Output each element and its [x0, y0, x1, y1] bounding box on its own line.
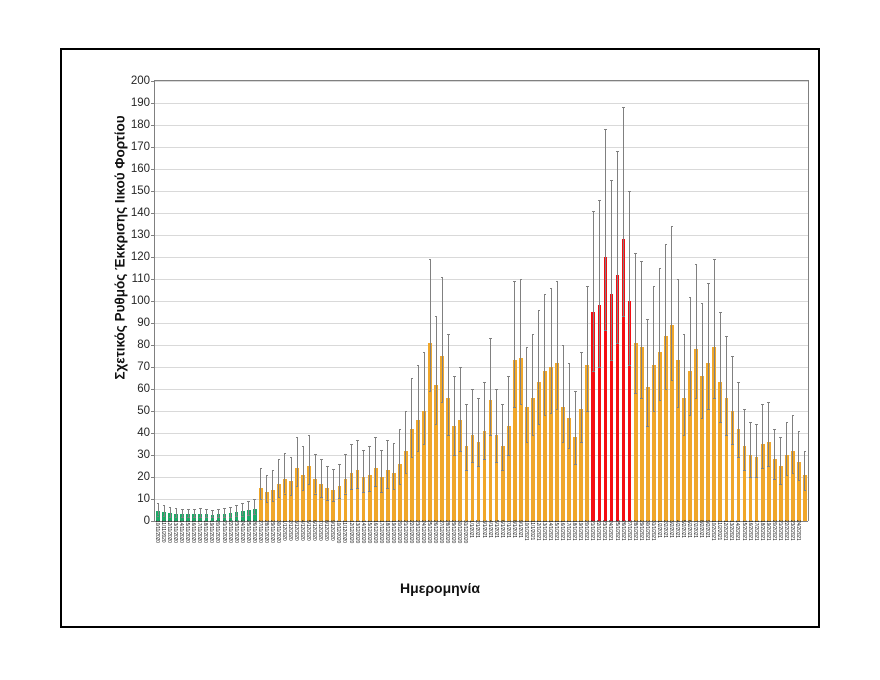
y-axis-tick-label: 140 — [131, 207, 150, 219]
bar-column — [422, 81, 426, 521]
bar-column — [682, 81, 686, 521]
bar — [283, 479, 287, 521]
x-axis-tick-label: 8/1/2021 — [511, 520, 516, 538]
x-axis-tick-label: 30/1/2021 — [644, 520, 649, 540]
bar — [567, 418, 571, 521]
bar-column — [743, 81, 747, 521]
bar-column — [265, 81, 269, 521]
bar-column — [561, 81, 565, 521]
x-axis-tick-label: 12/11/2020 — [166, 520, 171, 543]
x-axis-tick-label: 20/12/2020 — [396, 520, 401, 543]
x-axis-tick-label: 14/1/2021 — [547, 520, 552, 540]
y-axis-tick-label: 180 — [131, 119, 150, 131]
x-axis-tick-label: 16/11/2020 — [190, 520, 195, 543]
bar-column — [319, 81, 323, 521]
bar — [386, 470, 390, 521]
x-axis-tick-label: 26/11/2020 — [251, 520, 256, 543]
bar — [555, 363, 559, 521]
bar-column — [670, 81, 674, 521]
bar-column — [579, 81, 583, 521]
bar — [495, 435, 499, 521]
bar-column — [205, 81, 209, 521]
y-axis-tick-label: 20 — [137, 471, 150, 483]
bar-column — [767, 81, 771, 521]
bar — [628, 301, 632, 521]
bar — [743, 446, 747, 521]
y-axis-tick-label: 190 — [131, 97, 150, 109]
bar — [471, 435, 475, 521]
bar-column — [398, 81, 402, 521]
y-axis-tick-label: 30 — [137, 449, 150, 461]
bar — [356, 470, 360, 521]
x-axis-tick-label: 10/1/2021 — [523, 520, 528, 540]
y-axis-tick-label: 100 — [131, 295, 150, 307]
bar-column — [513, 81, 517, 521]
x-axis-tick-label: 30/11/2020 — [275, 520, 280, 543]
bar-column — [223, 81, 227, 521]
bar — [676, 360, 680, 521]
bar-column — [737, 81, 741, 521]
y-axis-tick-label: 0 — [144, 515, 150, 527]
x-axis-tick-label: 19/11/2020 — [208, 520, 213, 543]
x-axis-tick-label: 30/12/2020 — [456, 520, 461, 543]
bar — [573, 437, 577, 521]
x-axis-tick-label: 19/2/2021 — [765, 520, 770, 540]
bar — [634, 343, 638, 521]
bar — [610, 294, 614, 521]
x-axis-tick-label: 27/12/2020 — [438, 520, 443, 543]
bar-column — [313, 81, 317, 521]
bar — [483, 431, 487, 521]
bar-column — [404, 81, 408, 521]
bar — [537, 382, 541, 521]
x-axis-tick-label: 10/12/2020 — [335, 520, 340, 543]
bar-column — [525, 81, 529, 521]
bar — [410, 429, 414, 521]
bar-column — [356, 81, 360, 521]
x-axis-tick-label: 17/2/2021 — [753, 520, 758, 540]
x-axis-tick-label: 18/1/2021 — [571, 520, 576, 540]
x-axis-tick-label: 12/2/2021 — [722, 520, 727, 540]
bar-column — [446, 81, 450, 521]
bar — [477, 442, 481, 521]
bar-column — [652, 81, 656, 521]
x-axis-tick-label: 6/12/2020 — [311, 520, 316, 540]
bar-column — [338, 81, 342, 521]
bar — [731, 411, 735, 521]
x-axis-tick-label: 24/2/2021 — [795, 520, 800, 540]
bar-column — [283, 81, 287, 521]
bar — [277, 484, 281, 521]
x-axis-tick-label: 26/12/2020 — [432, 520, 437, 543]
bar-column — [622, 81, 626, 521]
x-axis-tick-label: 13/2/2021 — [728, 520, 733, 540]
bar-column — [277, 81, 281, 521]
bar-column — [392, 81, 396, 521]
x-axis-tick-label: 27/1/2021 — [626, 520, 631, 540]
bar — [525, 407, 529, 521]
x-axis-tick-label: 9/2/2021 — [704, 520, 709, 538]
x-axis-tick-label: 23/12/2020 — [414, 520, 419, 543]
bar — [755, 457, 759, 521]
bar-column — [241, 81, 245, 521]
bar — [428, 343, 432, 521]
bar — [368, 475, 372, 521]
bar-column — [616, 81, 620, 521]
bar-column — [755, 81, 759, 521]
bar — [331, 490, 335, 521]
x-axis-tick-label: 19/12/2020 — [390, 520, 395, 543]
x-axis-tick-label: 11/1/2021 — [529, 520, 534, 540]
bar — [712, 347, 716, 521]
bar-column — [307, 81, 311, 521]
bar — [803, 475, 807, 521]
x-axis-tick-label: 18/12/2020 — [384, 520, 389, 543]
bar-column — [749, 81, 753, 521]
bar — [519, 358, 523, 521]
x-axis-tick-label: 14/11/2020 — [178, 520, 183, 543]
x-axis-tick-label: 10/11/2020 — [154, 520, 159, 543]
bar — [440, 356, 444, 521]
x-axis-tick-label: 24/1/2021 — [607, 520, 612, 540]
x-axis-tick-label: 17/11/2020 — [196, 520, 201, 543]
bar — [737, 429, 741, 521]
bar — [295, 468, 299, 521]
bar-column — [362, 81, 366, 521]
bar-column — [507, 81, 511, 521]
bar-column — [585, 81, 589, 521]
x-axis-tick-label: 1/2/2021 — [656, 520, 661, 538]
bar-column — [368, 81, 372, 521]
x-axis-tick-label: 2/1/2021 — [474, 520, 479, 538]
x-axis-tick-label: 27/11/2020 — [257, 520, 262, 543]
bar-column — [156, 81, 160, 521]
bar — [718, 382, 722, 521]
bar — [398, 464, 402, 521]
bar — [549, 367, 553, 521]
bar-column — [192, 81, 196, 521]
bar — [513, 360, 517, 521]
x-axis-tick-label: 12/1/2021 — [535, 520, 540, 540]
bar — [598, 305, 602, 521]
bar-column — [180, 81, 184, 521]
bar-column — [386, 81, 390, 521]
x-axis-tick-label: 16/12/2020 — [372, 520, 377, 543]
x-axis-tick-label: 28/11/2020 — [263, 520, 268, 543]
bar-column — [731, 81, 735, 521]
bar-column — [646, 81, 650, 521]
x-axis-tick-label: 18/2/2021 — [759, 520, 764, 540]
x-axis-tick-label: 14/2/2021 — [734, 520, 739, 540]
bar — [434, 385, 438, 521]
x-axis-tick-label: 4/2/2021 — [674, 520, 679, 538]
bar-column — [331, 81, 335, 521]
x-axis-tick-label: 7/2/2021 — [692, 520, 697, 538]
bar — [325, 488, 329, 521]
bar — [694, 349, 698, 521]
bar-column — [694, 81, 698, 521]
x-axis-tick-label: 3/1/2021 — [481, 520, 486, 538]
x-axis-tick-label: 23/11/2020 — [233, 520, 238, 543]
x-axis-tick-label: 20/11/2020 — [214, 520, 219, 543]
x-axis-tick-label: 10/2/2021 — [710, 520, 715, 540]
x-axis-tick-label: 11/2/2021 — [716, 520, 721, 540]
y-axis-tick-label: 170 — [131, 141, 150, 153]
bar-column — [706, 81, 710, 521]
bar — [749, 455, 753, 521]
x-axis-tick-label: 17/1/2021 — [565, 520, 570, 540]
bar-column — [253, 81, 257, 521]
chart-frame: Σχετικός Ρυθμός Έκκρισης Ιικού Φορτίου 0… — [60, 48, 820, 628]
bar-column — [174, 81, 178, 521]
bar — [458, 420, 462, 521]
bar-column — [489, 81, 493, 521]
bar-column — [380, 81, 384, 521]
bar-column — [477, 81, 481, 521]
bar-column — [803, 81, 807, 521]
bar-column — [501, 81, 505, 521]
bar-column — [295, 81, 299, 521]
bar — [531, 398, 535, 521]
bar-column — [700, 81, 704, 521]
x-axis-tick-label: 28/12/2020 — [444, 520, 449, 543]
x-axis-tick-label: 20/1/2021 — [583, 520, 588, 540]
x-axis-tick-label: 21/11/2020 — [221, 520, 226, 543]
bar — [700, 376, 704, 521]
x-axis-tick-label: 29/12/2020 — [450, 520, 455, 543]
bar-column — [688, 81, 692, 521]
x-axis-tick-label: 25/11/2020 — [245, 520, 250, 543]
y-axis-tick-label: 50 — [137, 405, 150, 417]
x-axis-tick-label: 11/11/2020 — [160, 520, 165, 542]
x-axis-tick-label: 9/1/2021 — [517, 520, 522, 538]
y-axis-tick-label: 60 — [137, 383, 150, 395]
x-axis-tick-label: 6/2/2021 — [686, 520, 691, 538]
bar-column — [658, 81, 662, 521]
x-axis-tick-label: 5/2/2021 — [680, 520, 685, 538]
bar — [265, 492, 269, 521]
x-axis-tick-label: 17/12/2020 — [378, 520, 383, 543]
x-axis-tick-label: 7/12/2020 — [317, 520, 322, 540]
bar — [779, 466, 783, 521]
bar — [543, 371, 547, 521]
bar-column — [718, 81, 722, 521]
plot-area: 0102030405060708090100110120130140150160… — [154, 80, 809, 521]
y-axis-tick-label: 200 — [131, 75, 150, 87]
x-axis-tick-label: 21/12/2020 — [402, 520, 407, 543]
bar-column — [452, 81, 456, 521]
y-axis-tick-label: 90 — [137, 317, 150, 329]
bar — [416, 420, 420, 521]
bar-column — [628, 81, 632, 521]
bar-column — [779, 81, 783, 521]
bar-column — [712, 81, 716, 521]
x-axis-tick-label: 15/12/2020 — [366, 520, 371, 543]
bar-column — [567, 81, 571, 521]
x-axis-tick-label: 11/12/2020 — [341, 520, 346, 543]
bar — [706, 363, 710, 521]
x-axis-tick-label: 6/1/2021 — [499, 520, 504, 538]
bar-column — [271, 81, 275, 521]
bar — [688, 371, 692, 521]
bar — [392, 473, 396, 521]
bar — [622, 239, 626, 521]
x-axis-tick-label: 18/11/2020 — [202, 520, 207, 543]
bar — [313, 479, 317, 521]
y-axis-tick-label: 130 — [131, 229, 150, 241]
bar-column — [573, 81, 577, 521]
bar-column — [217, 81, 221, 521]
x-axis-tick-label: 22/1/2021 — [595, 520, 600, 540]
y-axis-tick-label: 120 — [131, 251, 150, 263]
x-axis-tick-label: 19/1/2021 — [577, 520, 582, 540]
bar — [507, 426, 511, 521]
bar-column — [289, 81, 293, 521]
bar-column — [344, 81, 348, 521]
x-axis-tick-label: 31/12/2020 — [462, 520, 467, 543]
x-axis-tick-label: 8/12/2020 — [323, 520, 328, 540]
bar — [797, 462, 801, 521]
bar-column — [676, 81, 680, 521]
x-axis-title: Ημερομηνία — [62, 580, 818, 596]
x-axis-tick-label: 20/2/2021 — [771, 520, 776, 540]
y-axis-tick-label: 80 — [137, 339, 150, 351]
bar-column — [591, 81, 595, 521]
chart-canvas: Σχετικός Ρυθμός Έκκρισης Ιικού Φορτίου 0… — [0, 0, 880, 680]
bar — [670, 325, 674, 521]
bar-column — [229, 81, 233, 521]
bar-column — [465, 81, 469, 521]
x-axis-tick-label: 26/1/2021 — [620, 520, 625, 540]
x-axis-tick-label: 15/11/2020 — [184, 520, 189, 543]
bar — [604, 257, 608, 521]
bar-column — [440, 81, 444, 521]
bar-column — [301, 81, 305, 521]
bar-column — [410, 81, 414, 521]
bar-column — [374, 81, 378, 521]
bar-column — [434, 81, 438, 521]
bar-column — [537, 81, 541, 521]
bar-column — [791, 81, 795, 521]
bar-column — [543, 81, 547, 521]
bar — [344, 479, 348, 521]
x-axis-tick-label: 23/2/2021 — [789, 520, 794, 540]
bar — [307, 466, 311, 521]
x-axis-tick-label: 3/12/2020 — [293, 520, 298, 540]
y-axis-tick-label: 160 — [131, 163, 150, 175]
bar — [561, 407, 565, 521]
bar — [652, 365, 656, 521]
x-axis-tick-label: 14/12/2020 — [360, 520, 365, 543]
bar — [350, 473, 354, 521]
bar — [501, 446, 505, 521]
bar-column — [247, 81, 251, 521]
x-axis-tick-label: 16/2/2021 — [747, 520, 752, 540]
x-axis-tick-label: 5/1/2021 — [493, 520, 498, 538]
x-axis-tick-label: 24/12/2020 — [420, 520, 425, 543]
bar-column — [325, 81, 329, 521]
x-axis-tick-label: 23/1/2021 — [601, 520, 606, 540]
bar — [362, 477, 366, 521]
bar — [761, 444, 765, 521]
bar — [616, 275, 620, 521]
bar — [591, 312, 595, 521]
x-axis-tick-label: 2/2/2021 — [662, 520, 667, 538]
bar-column — [162, 81, 166, 521]
bar — [465, 446, 469, 521]
x-axis-tick-label: 2/12/2020 — [287, 520, 292, 540]
bar-column — [259, 81, 263, 521]
bar-column — [785, 81, 789, 521]
bar-column — [428, 81, 432, 521]
x-axis-tick-label: 4/12/2020 — [299, 520, 304, 540]
x-axis-tick-label: 13/1/2021 — [541, 520, 546, 540]
bar-column — [168, 81, 172, 521]
bar — [725, 398, 729, 521]
bar — [664, 336, 668, 521]
bar-column — [598, 81, 602, 521]
bar — [289, 481, 293, 521]
x-axis-tick-label: 22/12/2020 — [408, 520, 413, 543]
bar — [271, 490, 275, 521]
bar-column — [640, 81, 644, 521]
bar — [446, 398, 450, 521]
bar-column — [604, 81, 608, 521]
bar-column — [610, 81, 614, 521]
x-axis-tick-label: 25/12/2020 — [426, 520, 431, 543]
x-axis-tick-label: 7/1/2021 — [505, 520, 510, 538]
y-axis-title: Σχετικός Ρυθμός Έκκρισης Ιικού Φορτίου — [113, 98, 128, 398]
x-axis-tick-label: 8/2/2021 — [698, 520, 703, 538]
bar — [422, 411, 426, 521]
y-axis-tick-label: 110 — [132, 273, 150, 285]
x-axis-tick-label: 1/1/2021 — [468, 520, 473, 538]
x-axis-tick-label: 21/1/2021 — [589, 520, 594, 540]
x-axis-tick-label: 22/2/2021 — [783, 520, 788, 540]
bar — [404, 451, 408, 521]
bar-column — [549, 81, 553, 521]
x-axis-tick-label: 24/11/2020 — [239, 520, 244, 543]
bar — [374, 468, 378, 521]
x-axis-tick-label: 28/1/2021 — [632, 520, 637, 540]
bar-column — [211, 81, 215, 521]
x-axis-tick-label: 15/2/2021 — [741, 520, 746, 540]
bar — [791, 451, 795, 521]
bar-column — [471, 81, 475, 521]
bar-column — [797, 81, 801, 521]
x-axis-tick-label: 5/12/2020 — [305, 520, 310, 540]
bar — [452, 426, 456, 521]
bar-column — [531, 81, 535, 521]
bar — [319, 484, 323, 521]
x-axis-tick-label: 29/1/2021 — [638, 520, 643, 540]
bar-column — [458, 81, 462, 521]
bar-column — [198, 81, 202, 521]
x-axis-tick-label: 25/1/2021 — [614, 520, 619, 540]
x-axis-tick-label: 4/1/2021 — [487, 520, 492, 538]
bar — [489, 400, 493, 521]
x-axis-tick-label: 1/12/2020 — [281, 520, 286, 540]
bar — [579, 409, 583, 521]
bar — [646, 387, 650, 521]
bar — [785, 455, 789, 521]
bar — [301, 475, 305, 521]
bar — [259, 488, 263, 521]
bar — [773, 459, 777, 521]
bar-column — [495, 81, 499, 521]
x-axis-tick-label: 31/1/2021 — [650, 520, 655, 540]
x-axis-tick-label: 22/11/2020 — [227, 520, 232, 543]
